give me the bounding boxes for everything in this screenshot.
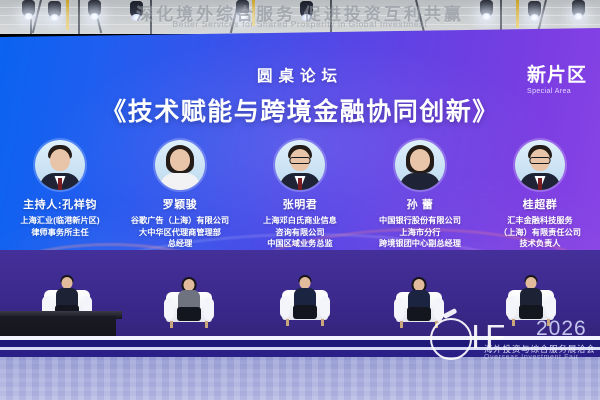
panelist-card: 张明君 上海邓白氏商业信息 咨询有限公司 中国区域业务总监: [240, 140, 360, 240]
panelist-role: 上海汇业(临港新片区) 律师事务所主任: [0, 215, 120, 238]
panelist-role: 谷歌广告（上海）有限公司 大中华区代理商管理部 总经理: [120, 215, 240, 250]
panelist-role-line: 上海汇业(临港新片区): [1, 215, 119, 227]
avatar: [395, 140, 445, 190]
panelist-role-line: 律师事务所主任: [1, 227, 119, 239]
panelist-role-line: 跨境银团中心副总经理: [361, 238, 479, 250]
event-logo-year: 2026: [536, 318, 587, 339]
panelist-role-line: 咨询有限公司: [241, 227, 359, 239]
forum-title: 《技术赋能与跨境金融协同创新》: [0, 92, 600, 128]
panelist-role-line: 大中华区代理商管理部: [121, 227, 239, 239]
panelist-role-line: 中国区域业务总监: [241, 238, 359, 250]
panelist-card: 孙 蕾 中国银行股份有限公司 上海市分行 跨境银团中心副总经理: [360, 140, 480, 240]
avatar: [515, 140, 565, 190]
event-logo-en: Overseas Investment Fair: [484, 354, 579, 361]
panelist-role-line: （上海）有限责任公司: [481, 227, 599, 239]
panelist-role-line: 谷歌广告（上海）有限公司: [121, 215, 239, 227]
stage-seat: [166, 286, 212, 328]
avatar: [155, 140, 205, 190]
avatar: [35, 140, 85, 190]
panelist-role-line: 技术负责人: [481, 238, 599, 250]
panelist-role: 中国银行股份有限公司 上海市分行 跨境银团中心副总经理: [360, 215, 480, 250]
panelist-role: 汇丰金融科技服务 （上海）有限责任公司 技术负责人: [480, 215, 600, 250]
oif-o-ring-icon: [430, 318, 472, 360]
avatar: [275, 140, 325, 190]
venue-banner-en: Better Services for Shared Prosperity in…: [0, 19, 600, 29]
event-logo: IF 2026 海外投资与综合服务展洽会 Overseas Investment…: [424, 316, 592, 382]
panelist-name: 罗颖骏: [120, 196, 240, 212]
forum-kicker: 圆桌论坛: [0, 64, 600, 86]
panelist-card: 罗颖骏 谷歌广告（上海）有限公司 大中华区代理商管理部 总经理: [120, 140, 240, 240]
panelist-role-line: 上海邓白氏商业信息: [241, 215, 359, 227]
corner-badge-en: Special Area: [527, 88, 600, 95]
panelist-card: 主持人:孔祥钧 上海汇业(临港新片区) 律师事务所主任: [0, 140, 120, 240]
panelist-name: 张明君: [240, 196, 360, 212]
panelist-role: 上海邓白氏商业信息 咨询有限公司 中国区域业务总监: [240, 215, 360, 250]
panelist-name: 孙 蕾: [360, 196, 480, 212]
panelist-role-line: 总经理: [121, 238, 239, 250]
panelist-role-line: 中国银行股份有限公司: [361, 215, 479, 227]
stage-seat: [282, 284, 328, 326]
conference-stage-photo: 深化境外综合服务 促进投资互利共赢 Better Services for Sh…: [0, 0, 600, 400]
panelist-name: 桂超群: [480, 196, 600, 212]
panelist-list: 主持人:孔祥钧 上海汇业(临港新片区) 律师事务所主任 罗颖骏 谷歌广告（上海）…: [0, 140, 600, 240]
panelist-name: 主持人:孔祥钧: [0, 196, 120, 212]
corner-badge-cn: 新片区: [527, 60, 600, 87]
venue-ceiling: 深化境外综合服务 促进投资互利共赢 Better Services for Sh…: [0, 0, 600, 34]
panelist-role-line: 汇丰金融科技服务: [481, 215, 599, 227]
corner-badge: 新片区 Special Area: [522, 60, 600, 95]
panelist-role-line: 上海市分行: [361, 227, 479, 239]
panelist-card: 桂超群 汇丰金融科技服务 （上海）有限责任公司 技术负责人: [480, 140, 600, 240]
